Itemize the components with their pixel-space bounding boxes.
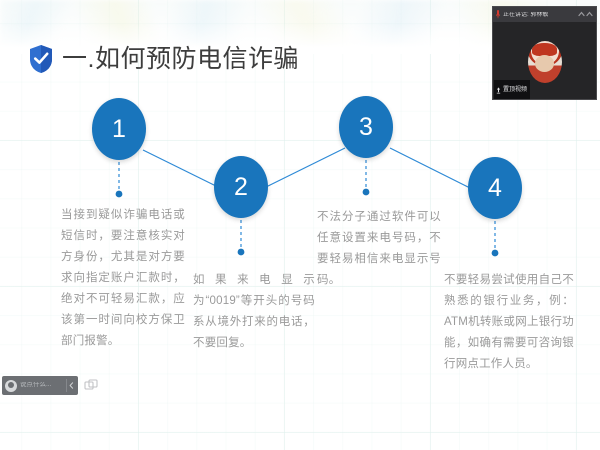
step-node-number: 4 <box>488 174 502 203</box>
step-node-1[interactable]: 1 <box>92 98 146 160</box>
speaking-label: 正在讲话: 郭林敏 <box>503 12 548 18</box>
step-text-1: 当接到疑似诈骗电话或短信时，要注意核实对方身份，尤其是对方要求向指定账户汇款时，… <box>61 205 185 352</box>
avatar <box>528 41 562 83</box>
pin-icon <box>496 81 501 99</box>
step-node-4[interactable]: 4 <box>468 157 522 219</box>
step-text-3: 不法分子通过软件可以任意设置来电号码，不要轻易相信来电显示号码。 <box>317 207 441 291</box>
step-text-4: 不要轻易尝试使用自己不熟悉的银行业务，例：ATM机转账或网上银行功能，如确有需要… <box>444 270 574 375</box>
step-node-3[interactable]: 3 <box>339 96 393 158</box>
slide-title-row: 一.如何预防电信诈骗 <box>28 44 299 74</box>
pin-video-badge[interactable]: 置顶视频 <box>494 80 530 100</box>
microphone-icon <box>496 6 500 24</box>
pin-video-label: 置顶视频 <box>503 87 527 93</box>
chat-input-bar[interactable]: 说点什么... <box>2 376 78 395</box>
chat-input[interactable]: 说点什么... <box>20 382 63 389</box>
floating-window-icon[interactable] <box>84 379 98 393</box>
step-node-number: 3 <box>359 113 373 142</box>
video-call-panel[interactable]: 正在讲话: 郭林敏 置顶视频 <box>492 6 597 100</box>
step-text-2: 如果来电显示为“0019”等开头的号码系从境外打来的电话，不要回复。 <box>193 270 315 354</box>
send-arrow-icon[interactable] <box>66 379 75 392</box>
video-feed-area[interactable]: 置顶视频 <box>493 22 596 100</box>
page-title: 一.如何预防电信诈骗 <box>62 47 299 72</box>
video-panel-header: 正在讲话: 郭林敏 <box>493 7 596 22</box>
step-node-number: 1 <box>112 115 126 144</box>
step-node-2[interactable]: 2 <box>214 156 268 218</box>
user-avatar-icon <box>5 380 17 392</box>
step-node-number: 2 <box>234 173 248 202</box>
chevron-up-icon[interactable] <box>578 10 593 18</box>
shield-check-icon <box>28 44 54 74</box>
slide-stage: 一.如何预防电信诈骗 1 2 3 4 当接到疑似诈骗电话或短信时，要注意核实对方… <box>0 0 600 450</box>
